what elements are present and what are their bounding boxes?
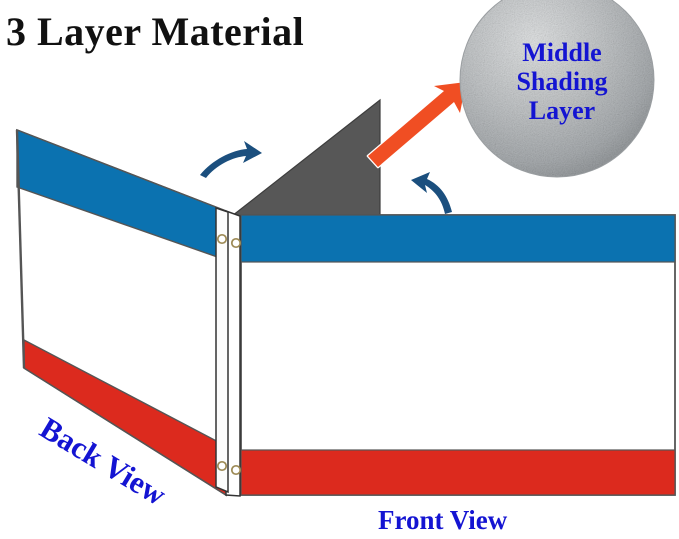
hoist-strip-front xyxy=(216,208,228,492)
illustration-canvas: 3 Layer Material xyxy=(0,0,679,539)
center-hoist-sleeve xyxy=(216,208,240,496)
grommet-icon xyxy=(218,462,226,470)
front-panel-pointer-arrow-icon xyxy=(411,172,452,214)
grommet-icon xyxy=(218,235,226,243)
shading-layer-pointer-arrow-icon xyxy=(368,82,466,167)
front-panel-blue-stripe xyxy=(241,215,675,262)
middle-shading-layer-triangle xyxy=(232,100,380,216)
grommet-icon xyxy=(232,239,240,247)
front-view-label: Front View xyxy=(378,505,507,536)
caption-line-1: Middle xyxy=(472,38,652,67)
middle-shading-layer-caption: Middle Shading Layer xyxy=(472,38,652,125)
front-panel xyxy=(241,215,675,495)
front-panel-red-stripe xyxy=(241,450,675,495)
grommet-icon xyxy=(232,466,240,474)
caption-line-2: Shading xyxy=(472,67,652,96)
caption-line-3: Layer xyxy=(472,96,652,125)
back-panel-pointer-arrow-icon xyxy=(200,141,262,178)
